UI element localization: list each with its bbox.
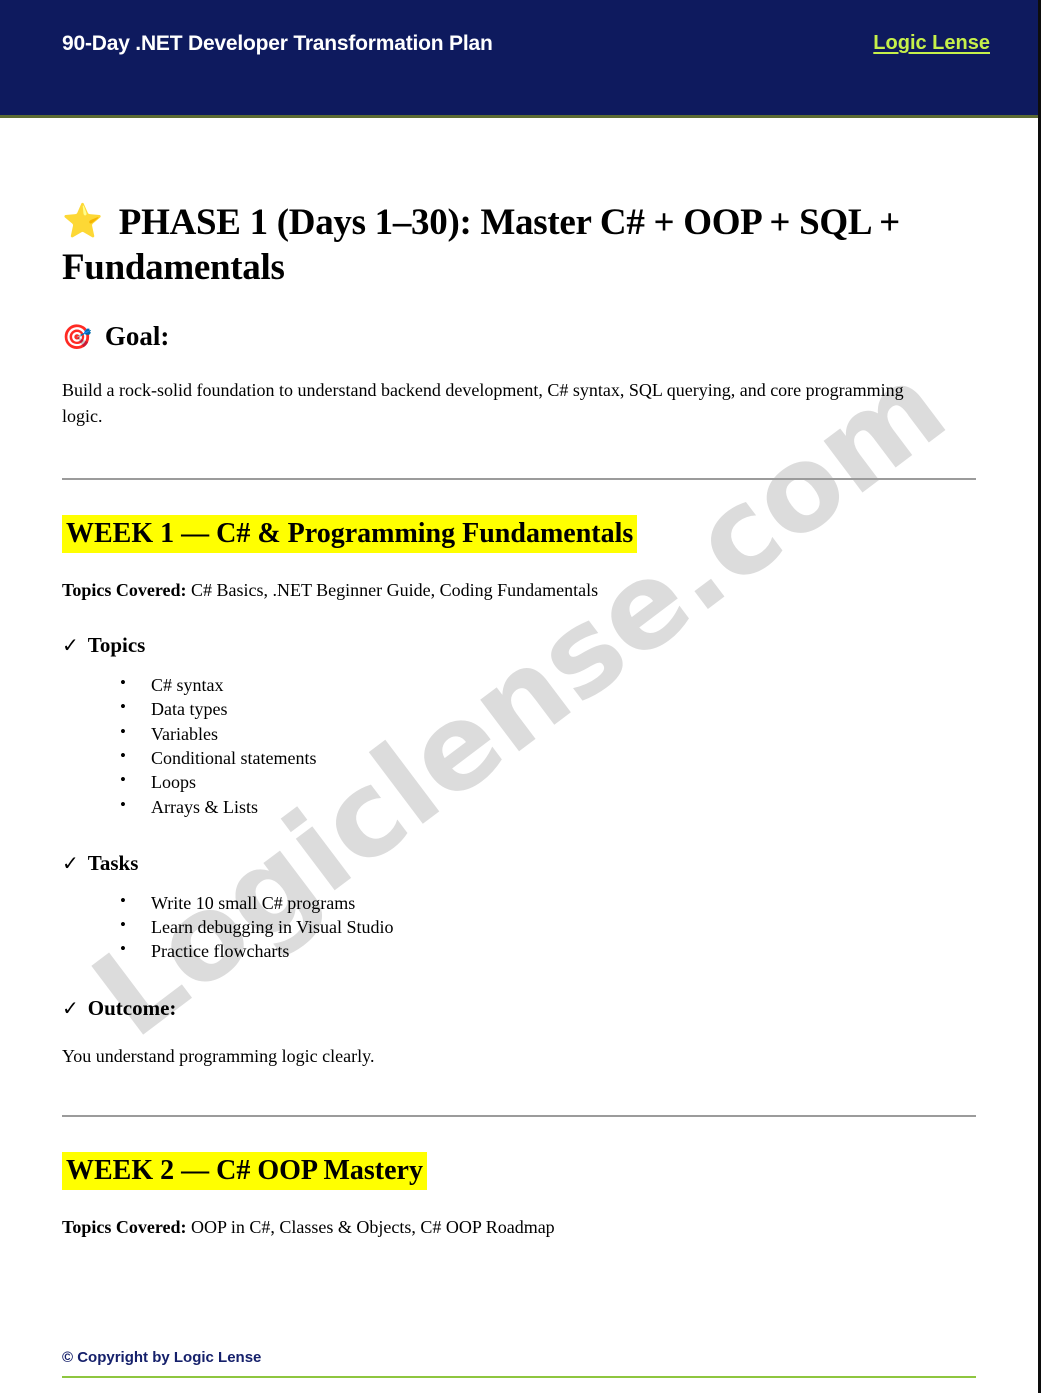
week-1-topics-covered: Topics Covered: C# Basics, .NET Beginner…: [62, 580, 976, 601]
goal-description: Build a rock-solid foundation to underst…: [62, 378, 947, 430]
week-1-topics-list: C# syntax Data types Variables Condition…: [62, 673, 976, 819]
list-item: Practice flowcharts: [120, 939, 976, 963]
week-1-outcome-heading-text: Outcome:: [88, 996, 177, 1020]
list-item: Write 10 small C# programs: [120, 891, 976, 915]
phase-heading: ⭐PHASE 1 (Days 1–30): Master C# + OOP + …: [62, 200, 976, 290]
week-2-topics-covered: Topics Covered: OOP in C#, Classes & Obj…: [62, 1217, 976, 1238]
week-1-topics-heading-text: Topics: [88, 633, 146, 657]
check-icon: ✓: [62, 996, 79, 1020]
week-1-heading: WEEK 1 — C# & Programming Fundamentals: [62, 515, 637, 553]
week-1-tasks-heading-text: Tasks: [88, 851, 139, 875]
topics-covered-value: OOP in C#, Classes & Objects, C# OOP Roa…: [187, 1217, 555, 1237]
list-item: Loops: [120, 770, 976, 794]
section-divider-2: [62, 1115, 976, 1117]
check-icon: ✓: [62, 851, 79, 875]
week-1-outcome-text: You understand programming logic clearly…: [62, 1046, 976, 1067]
list-item: Arrays & Lists: [120, 795, 976, 819]
document-body: ⭐PHASE 1 (Days 1–30): Master C# + OOP + …: [0, 200, 1038, 1238]
list-item: C# syntax: [120, 673, 976, 697]
goal-heading: 🎯Goal:: [62, 321, 976, 352]
week-1-tasks-list: Write 10 small C# programs Learn debuggi…: [62, 891, 976, 964]
week-1-topics-heading: ✓Topics: [62, 633, 976, 658]
star-emoji: ⭐: [62, 204, 103, 240]
goal-heading-text: Goal:: [105, 321, 170, 351]
footer-rule: © Copyright by Logic Lense: [62, 1349, 976, 1378]
check-icon: ✓: [62, 633, 79, 657]
week-1-tasks-heading: ✓Tasks: [62, 851, 976, 876]
topics-covered-label: Topics Covered:: [62, 580, 187, 600]
document-page: 90-Day .NET Developer Transformation Pla…: [0, 0, 1041, 1393]
list-item: Conditional statements: [120, 746, 976, 770]
direct-hit-emoji: 🎯: [62, 325, 92, 351]
list-item: Variables: [120, 722, 976, 746]
week-1-outcome-heading: ✓Outcome:: [62, 996, 976, 1021]
phase-heading-text: PHASE 1 (Days 1–30): Master C# + OOP + S…: [62, 202, 900, 288]
page-title: 90-Day .NET Developer Transformation Pla…: [62, 32, 493, 56]
topics-covered-label: Topics Covered:: [62, 1217, 187, 1237]
list-item: Learn debugging in Visual Studio: [120, 915, 976, 939]
document-header: 90-Day .NET Developer Transformation Pla…: [0, 0, 1038, 118]
week-2-heading: WEEK 2 — C# OOP Mastery: [62, 1152, 427, 1190]
topics-covered-value: C# Basics, .NET Beginner Guide, Coding F…: [187, 580, 599, 600]
document-footer: © Copyright by Logic Lense: [0, 1349, 1038, 1393]
section-divider-1: [62, 478, 976, 480]
list-item: Data types: [120, 697, 976, 721]
copyright-text: © Copyright by Logic Lense: [62, 1349, 261, 1366]
brand-link[interactable]: Logic Lense: [873, 32, 990, 55]
